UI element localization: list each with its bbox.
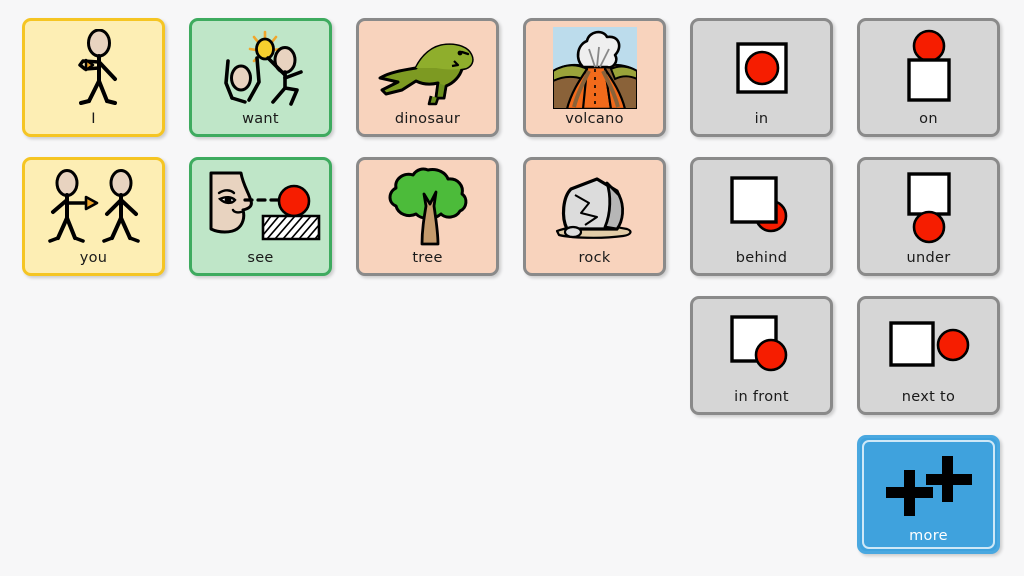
aac-cell-in[interactable]: in xyxy=(690,18,833,137)
aac-cell-you[interactable]: you xyxy=(22,157,165,276)
aac-cell-label: tree xyxy=(359,251,496,273)
aac-cell-tree[interactable]: tree xyxy=(356,157,499,276)
circle-inside-square-icon xyxy=(693,21,830,112)
aac-cell-in-front[interactable]: in front xyxy=(690,296,833,415)
circle-beside-square-icon xyxy=(860,299,997,390)
aac-cell-behind[interactable]: behind xyxy=(690,157,833,276)
aac-communication-board: I xyxy=(0,0,1024,576)
aac-cell-label: behind xyxy=(693,251,830,273)
circle-below-square-icon xyxy=(860,160,997,251)
aac-cell-next-to[interactable]: next to xyxy=(857,296,1000,415)
person-reaching-light-icon xyxy=(192,21,329,112)
aac-cell-under[interactable]: under xyxy=(857,157,1000,276)
aac-cell-on[interactable]: on xyxy=(857,18,1000,137)
tree-icon xyxy=(359,160,496,251)
aac-cell-label: next to xyxy=(860,390,997,412)
aac-cell-want[interactable]: want xyxy=(189,18,332,137)
tyrannosaurus-icon xyxy=(359,21,496,112)
person-pointing-other-icon xyxy=(25,160,162,251)
aac-cell-more[interactable]: more xyxy=(857,435,1000,554)
rock-icon xyxy=(526,160,663,251)
aac-cell-see[interactable]: see xyxy=(189,157,332,276)
circle-behind-square-icon xyxy=(693,160,830,251)
aac-cell-label: rock xyxy=(526,251,663,273)
aac-cell-label: see xyxy=(192,251,329,273)
aac-cell-label: want xyxy=(192,112,329,134)
person-pointing-self-icon xyxy=(25,21,162,112)
erupting-volcano-icon xyxy=(526,21,663,112)
double-plus-icon xyxy=(860,438,997,529)
aac-cell-label: you xyxy=(25,251,162,273)
aac-cell-label: more xyxy=(860,529,997,551)
aac-cell-rock[interactable]: rock xyxy=(523,157,666,276)
aac-cell-i[interactable]: I xyxy=(22,18,165,137)
circle-above-square-icon xyxy=(860,21,997,112)
aac-cell-volcano[interactable]: volcano xyxy=(523,18,666,137)
aac-cell-label: under xyxy=(860,251,997,273)
circle-front-square-icon xyxy=(693,299,830,390)
aac-cell-label: volcano xyxy=(526,112,663,134)
face-looking-at-ball-icon xyxy=(192,160,329,251)
aac-cell-label: in front xyxy=(693,390,830,412)
aac-cell-label: I xyxy=(25,112,162,134)
aac-cell-dinosaur[interactable]: dinosaur xyxy=(356,18,499,137)
aac-cell-label: on xyxy=(860,112,997,134)
aac-cell-label: dinosaur xyxy=(359,112,496,134)
aac-cell-label: in xyxy=(693,112,830,134)
